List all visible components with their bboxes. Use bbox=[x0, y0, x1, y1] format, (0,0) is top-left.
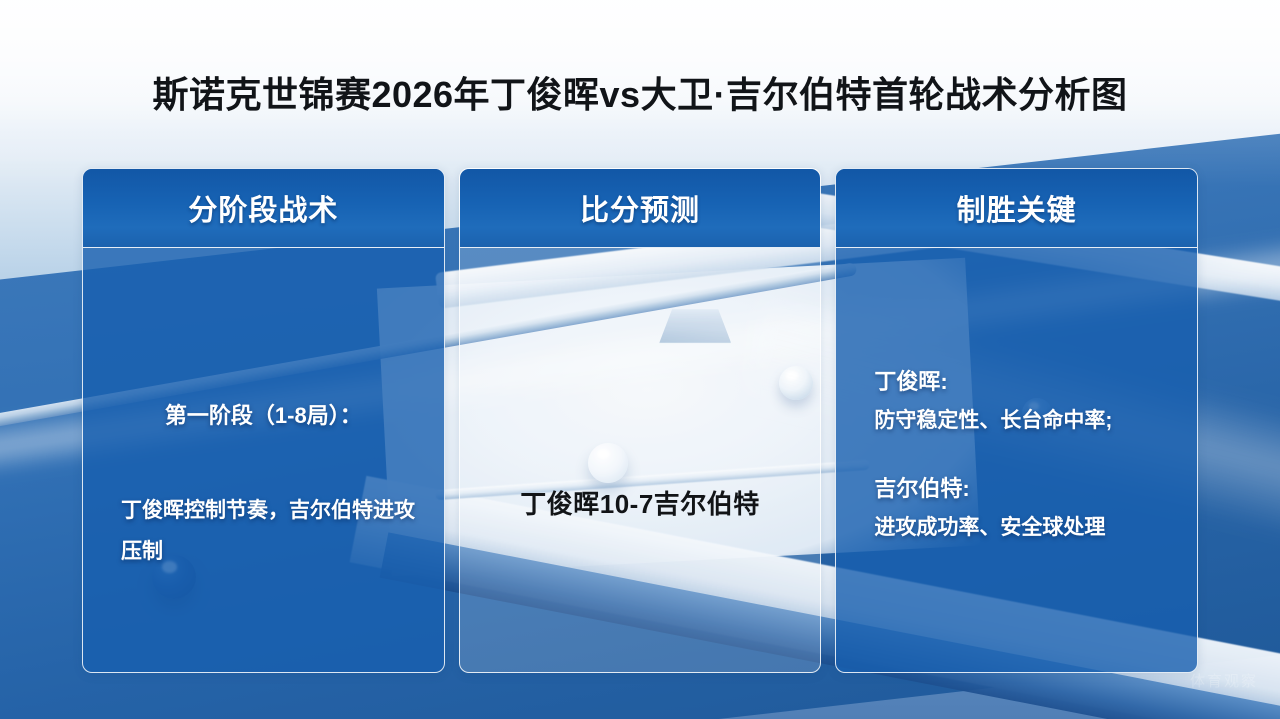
player-key-block-2: 吉尔伯特: 进攻成功率、安全球处理 bbox=[874, 471, 1175, 542]
card-title-winning-keys: 制胜关键 bbox=[957, 187, 1077, 229]
predicted-score: 丁俊晖10-7吉尔伯特 bbox=[460, 484, 821, 521]
card-title-score-prediction: 比分预测 bbox=[580, 187, 700, 229]
player-key-detail-2: 进攻成功率、安全球处理 bbox=[874, 513, 1175, 542]
page-title: 斯诺克世锦赛2026年丁俊晖vs大卫·吉尔伯特首轮战术分析图 bbox=[0, 66, 1280, 118]
slide-canvas: 斯诺克世锦赛2026年丁俊晖vs大卫·吉尔伯特首轮战术分析图 分阶段战术 第一阶… bbox=[0, 0, 1280, 719]
card-phased-tactics[interactable]: 分阶段战术 第一阶段（1-8局）： 丁俊晖控制节奏，吉尔伯特进攻压制 bbox=[82, 168, 445, 673]
card-header-score-prediction: 比分预测 bbox=[460, 169, 821, 248]
phase-label: 第一阶段（1-8局）： bbox=[83, 398, 444, 430]
card-header-winning-keys: 制胜关键 bbox=[836, 169, 1197, 248]
card-score-prediction[interactable]: 比分预测 丁俊晖10-7吉尔伯特 bbox=[459, 168, 822, 673]
phase-description: 丁俊晖控制节奏，吉尔伯特进攻压制 bbox=[121, 491, 418, 573]
card-body-score-prediction: 丁俊晖10-7吉尔伯特 bbox=[460, 248, 821, 672]
card-title-phased-tactics: 分阶段战术 bbox=[188, 187, 338, 229]
player-key-block-1: 丁俊晖: 防守稳定性、长台命中率; bbox=[874, 364, 1175, 435]
card-row: 分阶段战术 第一阶段（1-8局）： 丁俊晖控制节奏，吉尔伯特进攻压制 比分预测 … bbox=[82, 168, 1198, 673]
player-key-detail-1: 防守稳定性、长台命中率; bbox=[874, 406, 1175, 435]
card-header-phased-tactics: 分阶段战术 bbox=[83, 169, 444, 248]
card-body-phased-tactics: 第一阶段（1-8局）： 丁俊晖控制节奏，吉尔伯特进攻压制 bbox=[83, 248, 444, 672]
card-winning-keys[interactable]: 制胜关键 丁俊晖: 防守稳定性、长台命中率; 吉尔伯特: 进攻成功率、安全球处理 bbox=[835, 168, 1198, 673]
card-body-winning-keys: 丁俊晖: 防守稳定性、长台命中率; 吉尔伯特: 进攻成功率、安全球处理 bbox=[836, 248, 1197, 672]
player-name-1: 丁俊晖: bbox=[874, 364, 1175, 396]
player-name-2: 吉尔伯特: bbox=[874, 471, 1175, 503]
